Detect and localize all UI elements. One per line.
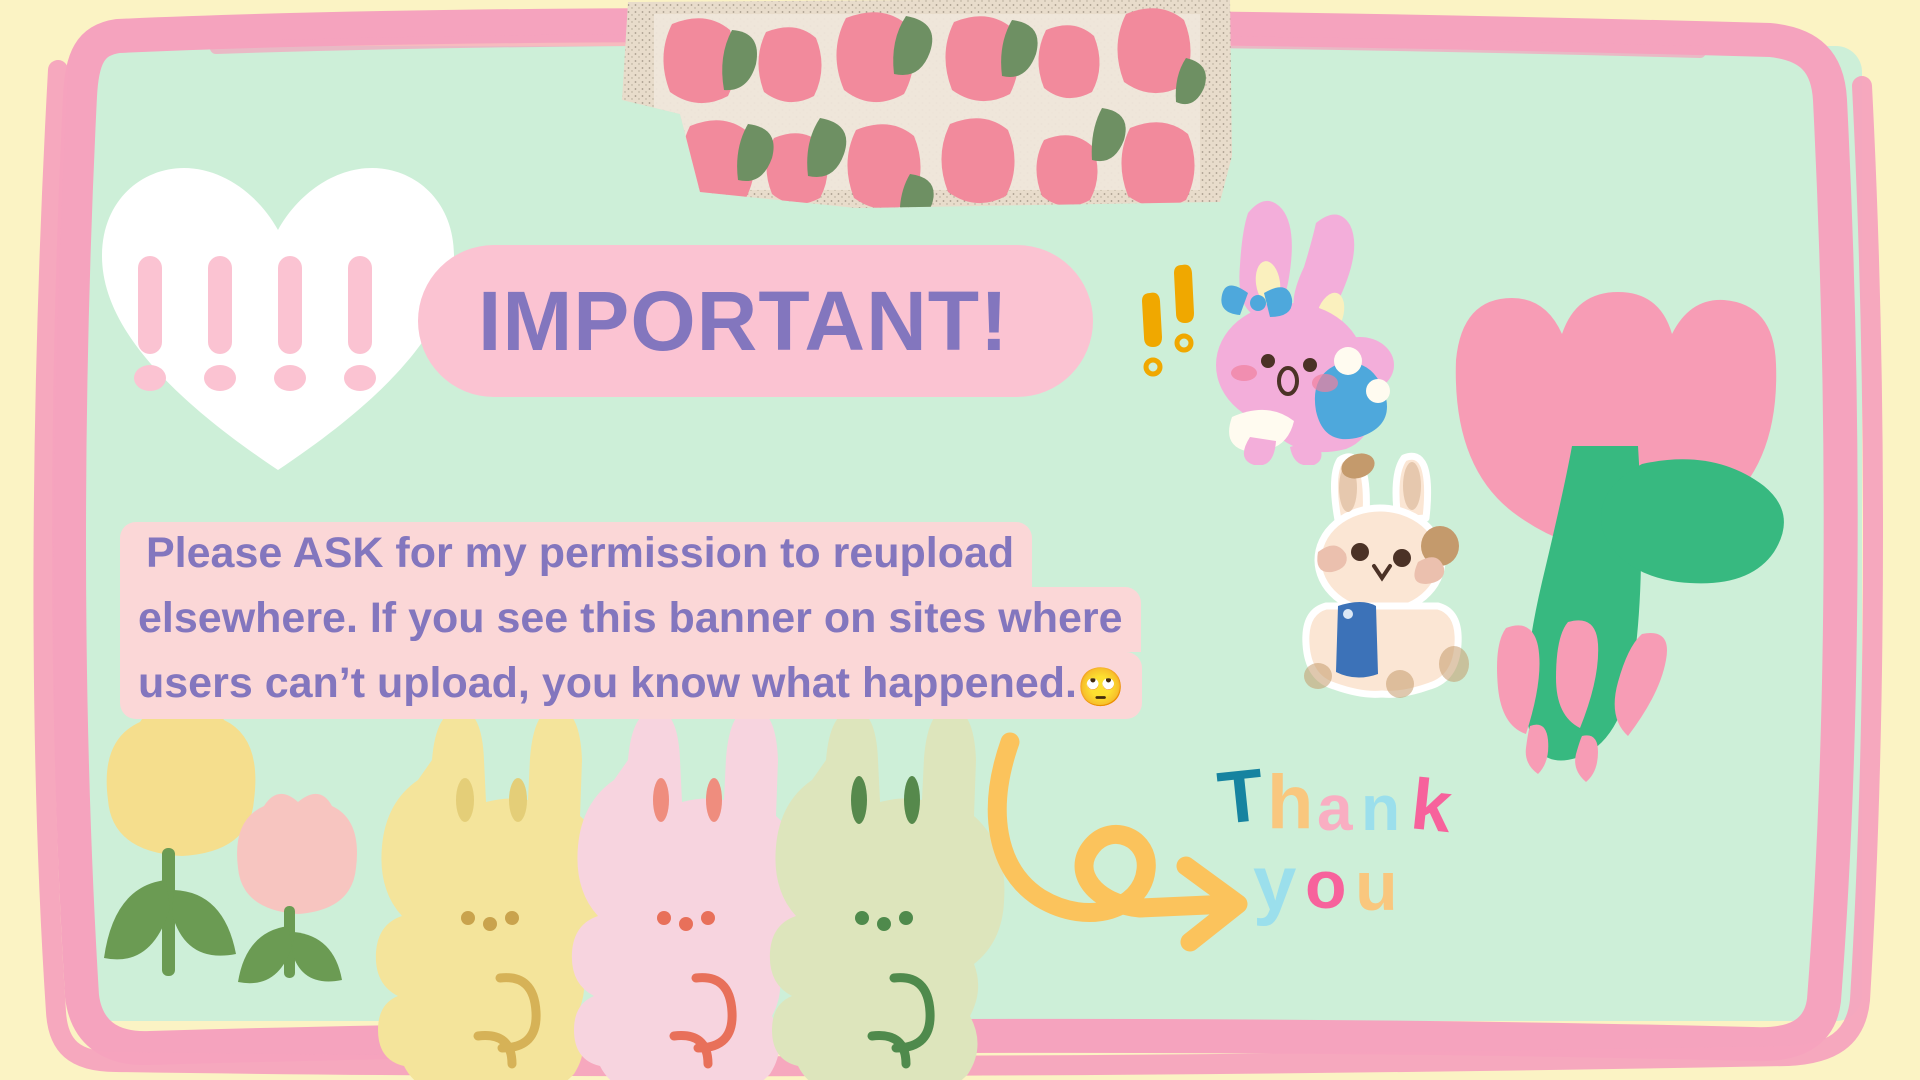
thankyou-letter-a: a bbox=[1317, 772, 1353, 844]
thankyou-letter-k: k bbox=[1407, 764, 1456, 848]
cream-bunny-holding-phone-sticker-icon bbox=[1278, 448, 1483, 706]
face-with-rolling-eyes-icon: 🙄 bbox=[1077, 667, 1124, 709]
message-line-1: Please ASK for my permission to reupload bbox=[120, 522, 1032, 587]
white-heart-with-exclamations-icon bbox=[98, 160, 458, 480]
thankyou-letter-T: T bbox=[1214, 753, 1268, 840]
message-line-2: elsewhere. If you see this banner on sit… bbox=[120, 587, 1141, 652]
important-banner: IMPORTANT! bbox=[418, 245, 1093, 397]
message-block: Please ASK for my permission to reupload… bbox=[120, 522, 1160, 719]
banner-canvas: IMPORTANT! Please ASK for my permission … bbox=[0, 0, 1920, 1080]
thankyou-letter-y: y bbox=[1253, 839, 1296, 927]
message-line-3: users can’t upload, you know what happen… bbox=[120, 652, 1142, 719]
message-line-3-text: users can’t upload, you know what happen… bbox=[138, 659, 1077, 707]
thankyou-letter-o: o bbox=[1305, 847, 1347, 923]
thankyou-letter-n: n bbox=[1361, 772, 1400, 844]
pink-bunny-with-blue-bow-sticker-icon bbox=[1140, 165, 1420, 465]
thank-you-lettering: T h a n k y o u bbox=[1205, 752, 1505, 952]
thankyou-letter-h: h bbox=[1267, 760, 1313, 845]
page-title: IMPORTANT! bbox=[478, 279, 1009, 363]
thankyou-letter-u: u bbox=[1355, 847, 1398, 925]
